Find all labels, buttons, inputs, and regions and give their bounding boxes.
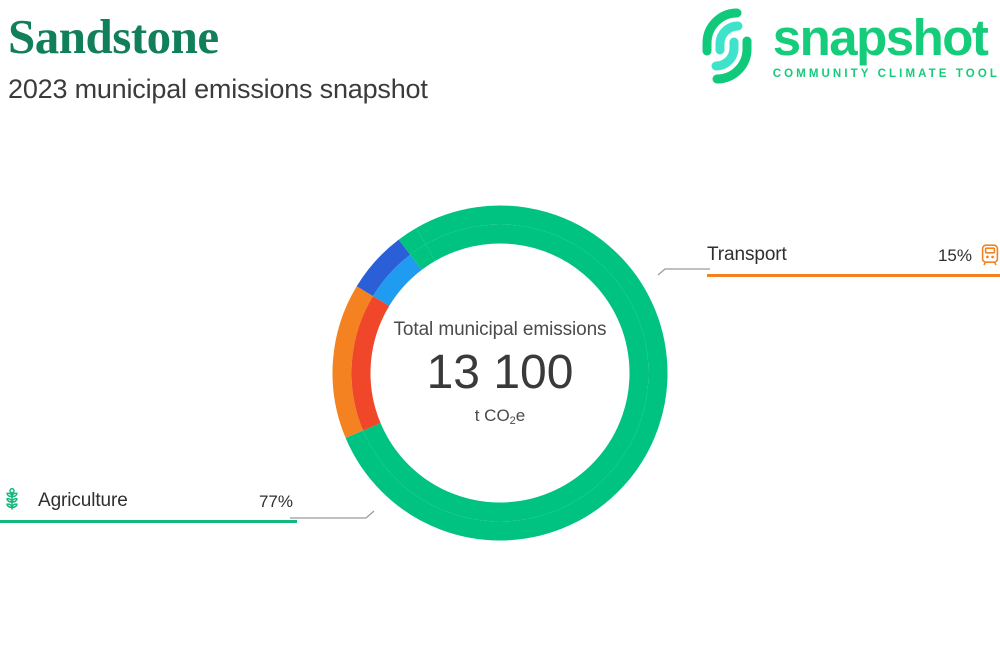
donut-segment-residual[interactable] xyxy=(416,253,431,263)
page-title: Sandstone xyxy=(8,8,219,66)
donut-ring-outer xyxy=(342,215,658,531)
transport-leader-line xyxy=(655,258,715,278)
donut-segment-transport[interactable] xyxy=(361,301,381,427)
logo-text: snapshot COMMUNITY CLIMATE TOOL xyxy=(773,12,1000,81)
callout-agriculture-row: Agriculture 77% xyxy=(0,487,297,513)
callout-transport-percent: 15% xyxy=(938,245,972,267)
train-icon xyxy=(980,244,1000,266)
wheat-icon xyxy=(0,488,24,512)
agriculture-leader-line xyxy=(290,505,380,527)
callout-agriculture-bar xyxy=(0,520,297,523)
logo-tagline: COMMUNITY CLIMATE TOOL xyxy=(773,67,1000,81)
callout-transport-row: Transport 15% xyxy=(707,241,1000,267)
callout-agriculture[interactable]: Agriculture 77% xyxy=(0,487,297,523)
callout-transport-label: Transport xyxy=(707,243,787,267)
logo-wordmark: snapshot xyxy=(773,12,1000,64)
emissions-donut-chart[interactable] xyxy=(323,196,677,550)
donut-ring-inner xyxy=(361,234,639,512)
donut-segment-residual[interactable] xyxy=(404,236,421,247)
callout-agriculture-label: Agriculture xyxy=(38,489,128,513)
page-header: Sandstone 2023 municipal emissions snaps… xyxy=(0,0,1000,120)
page-subtitle: 2023 municipal emissions snapshot xyxy=(8,72,428,106)
snapshot-logo[interactable]: snapshot COMMUNITY CLIMATE TOOL xyxy=(691,4,1000,88)
callout-agriculture-percent: 77% xyxy=(259,491,293,513)
snapshot-spiral-icon xyxy=(691,7,763,85)
callout-transport-bar xyxy=(707,274,1000,277)
callout-transport[interactable]: Transport 15% xyxy=(707,241,1000,277)
